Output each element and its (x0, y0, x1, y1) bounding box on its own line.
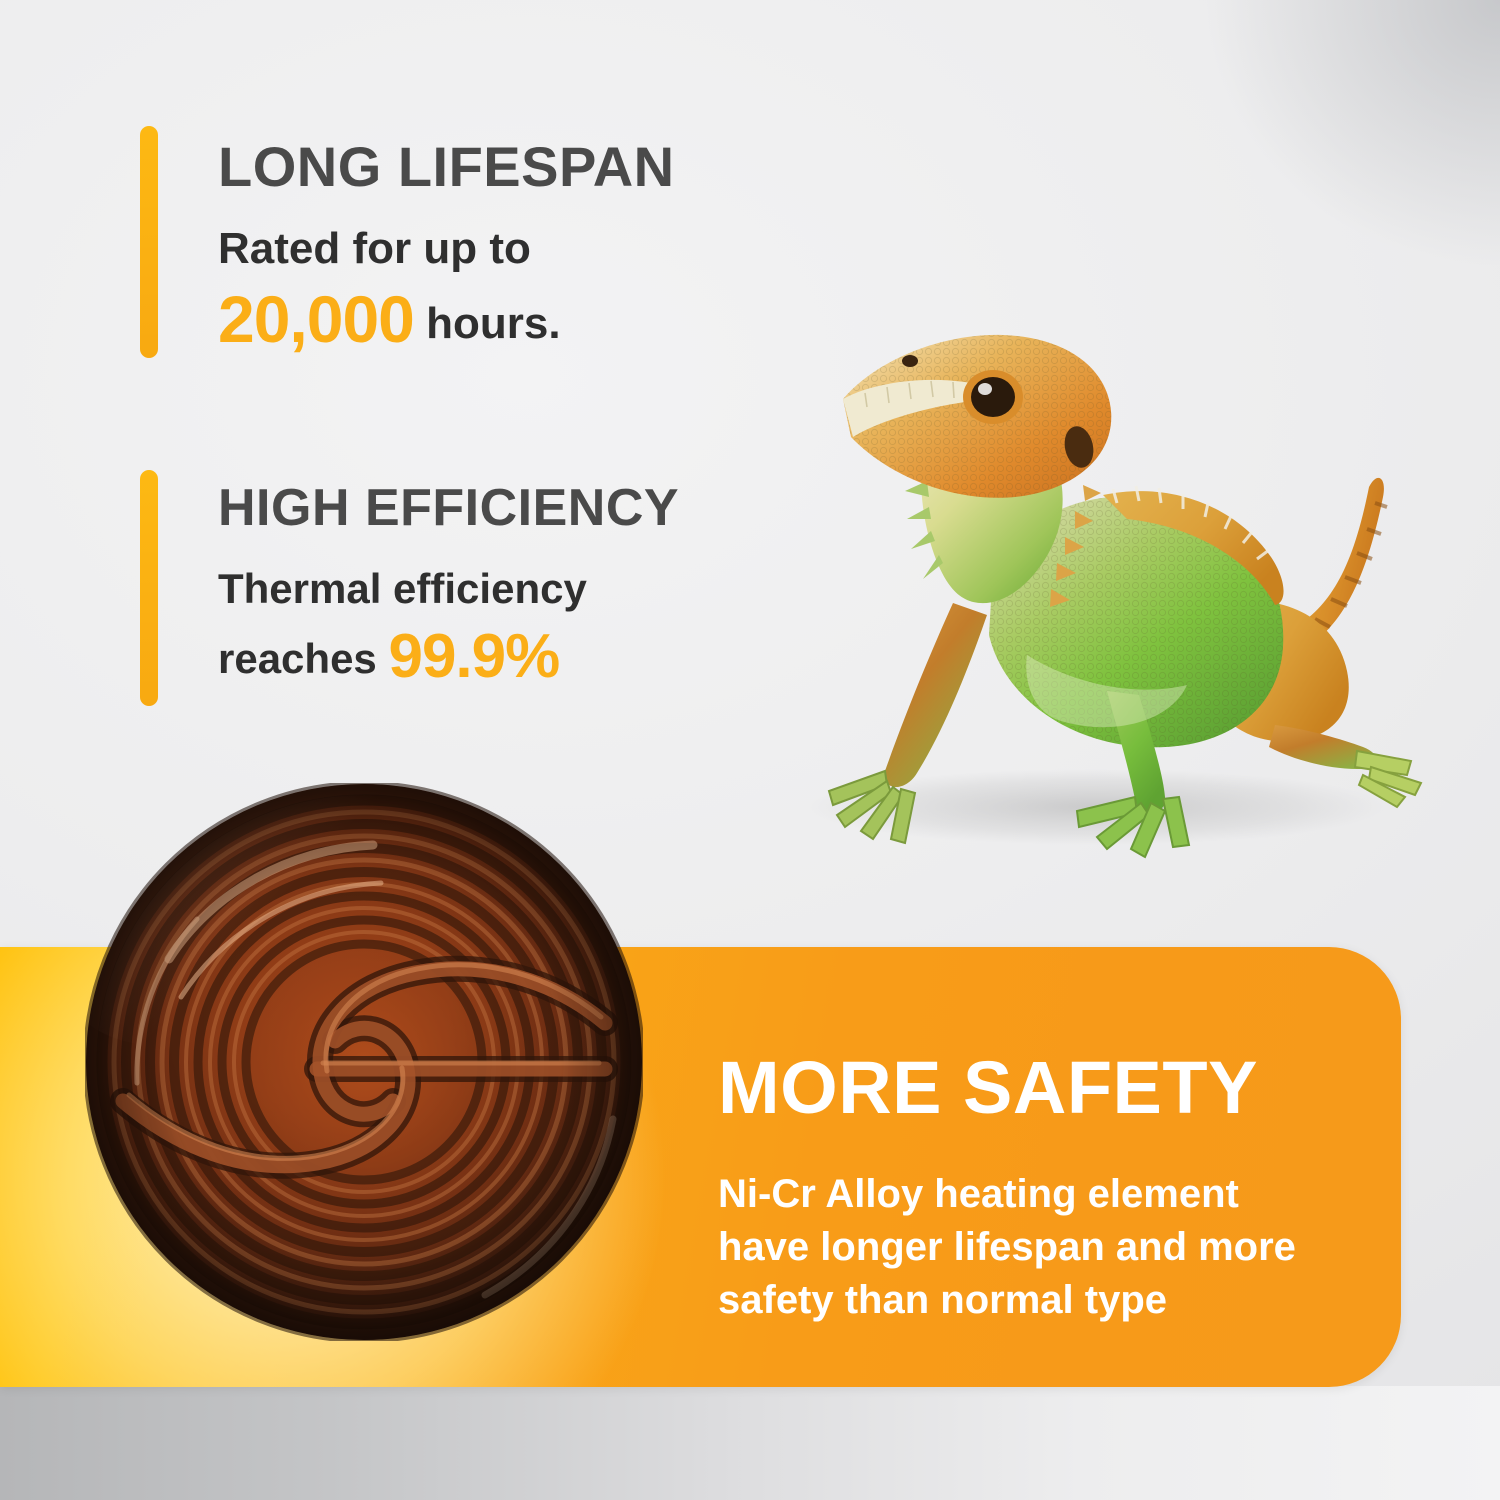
feature-highlight-value: 99.9% (388, 622, 559, 691)
safety-body-line1: Ni-Cr Alloy heating element (718, 1172, 1239, 1216)
feature-heading: HIGH EFFICIENCY (218, 478, 679, 538)
feature-subtext-suffix: hours. (414, 299, 561, 348)
feature-long-lifespan: LONG LIFESPAN Rated for up to 20,000 hou… (140, 126, 820, 361)
accent-bar-icon (140, 470, 158, 706)
feature-subtext-line1: Thermal efficiency (218, 565, 587, 612)
safety-body-line3: safety than normal type (718, 1278, 1167, 1322)
safety-title: MORE SAFETY (718, 1045, 1258, 1130)
safety-body: Ni-Cr Alloy heating element have longer … (718, 1168, 1398, 1326)
feature-highlight-value: 20,000 (218, 282, 414, 356)
feature-subtext-line1: Rated for up to (218, 224, 531, 273)
lizard-photo (735, 185, 1435, 865)
feature-subtext-prefix: reaches (218, 635, 388, 682)
safety-body-line2: have longer lifespan and more (718, 1225, 1296, 1269)
feature-subtext: Thermal efficiency reaches 99.9% (218, 562, 587, 697)
ceramic-heat-emitter-photo (85, 783, 643, 1341)
feature-subtext: Rated for up to 20,000 hours. (218, 220, 561, 363)
accent-bar-icon (140, 126, 158, 358)
feature-heading: LONG LIFESPAN (218, 134, 675, 199)
background-bottom-band (0, 1386, 1500, 1500)
